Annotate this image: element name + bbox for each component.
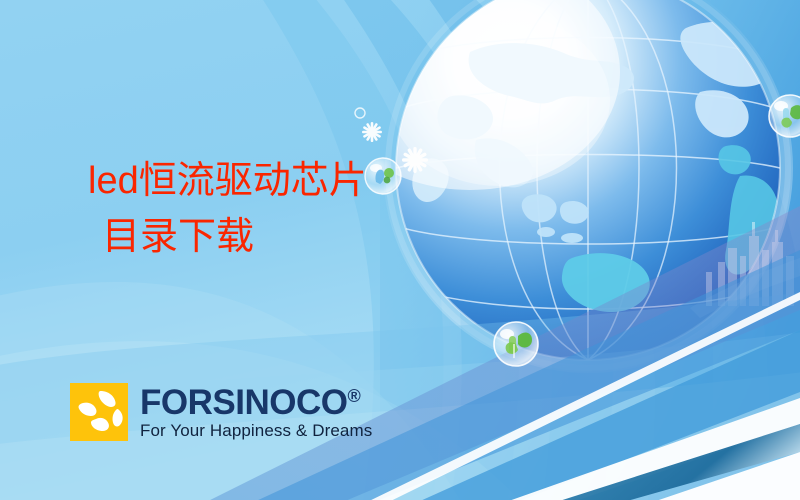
headline-line-2: 目录下载 [102, 218, 367, 256]
headline-line-1: led恒流驱动芯片 [88, 162, 367, 200]
headline-block: led恒流驱动芯片 目录下载 [88, 162, 367, 256]
registered-trademark-icon: ® [347, 386, 360, 406]
four-petal-flower-icon [70, 383, 128, 441]
logo-text-block: FORSINOCO® For Your Happiness & Dreams [140, 385, 372, 440]
logo-wordmark: FORSINOCO® [140, 385, 372, 420]
logo-tagline: For Your Happiness & Dreams [140, 422, 372, 440]
poster-canvas: led恒流驱动芯片 目录下载 FORSINOCO® For Your Happi… [0, 0, 800, 500]
bubble-globe-left [365, 158, 401, 194]
brand-logo: FORSINOCO® For Your Happiness & Dreams [70, 383, 372, 441]
logo-mark-icon [70, 383, 128, 441]
logo-wordmark-text: FORSINOCO [140, 383, 347, 422]
bubble-sprout-center [494, 322, 538, 366]
